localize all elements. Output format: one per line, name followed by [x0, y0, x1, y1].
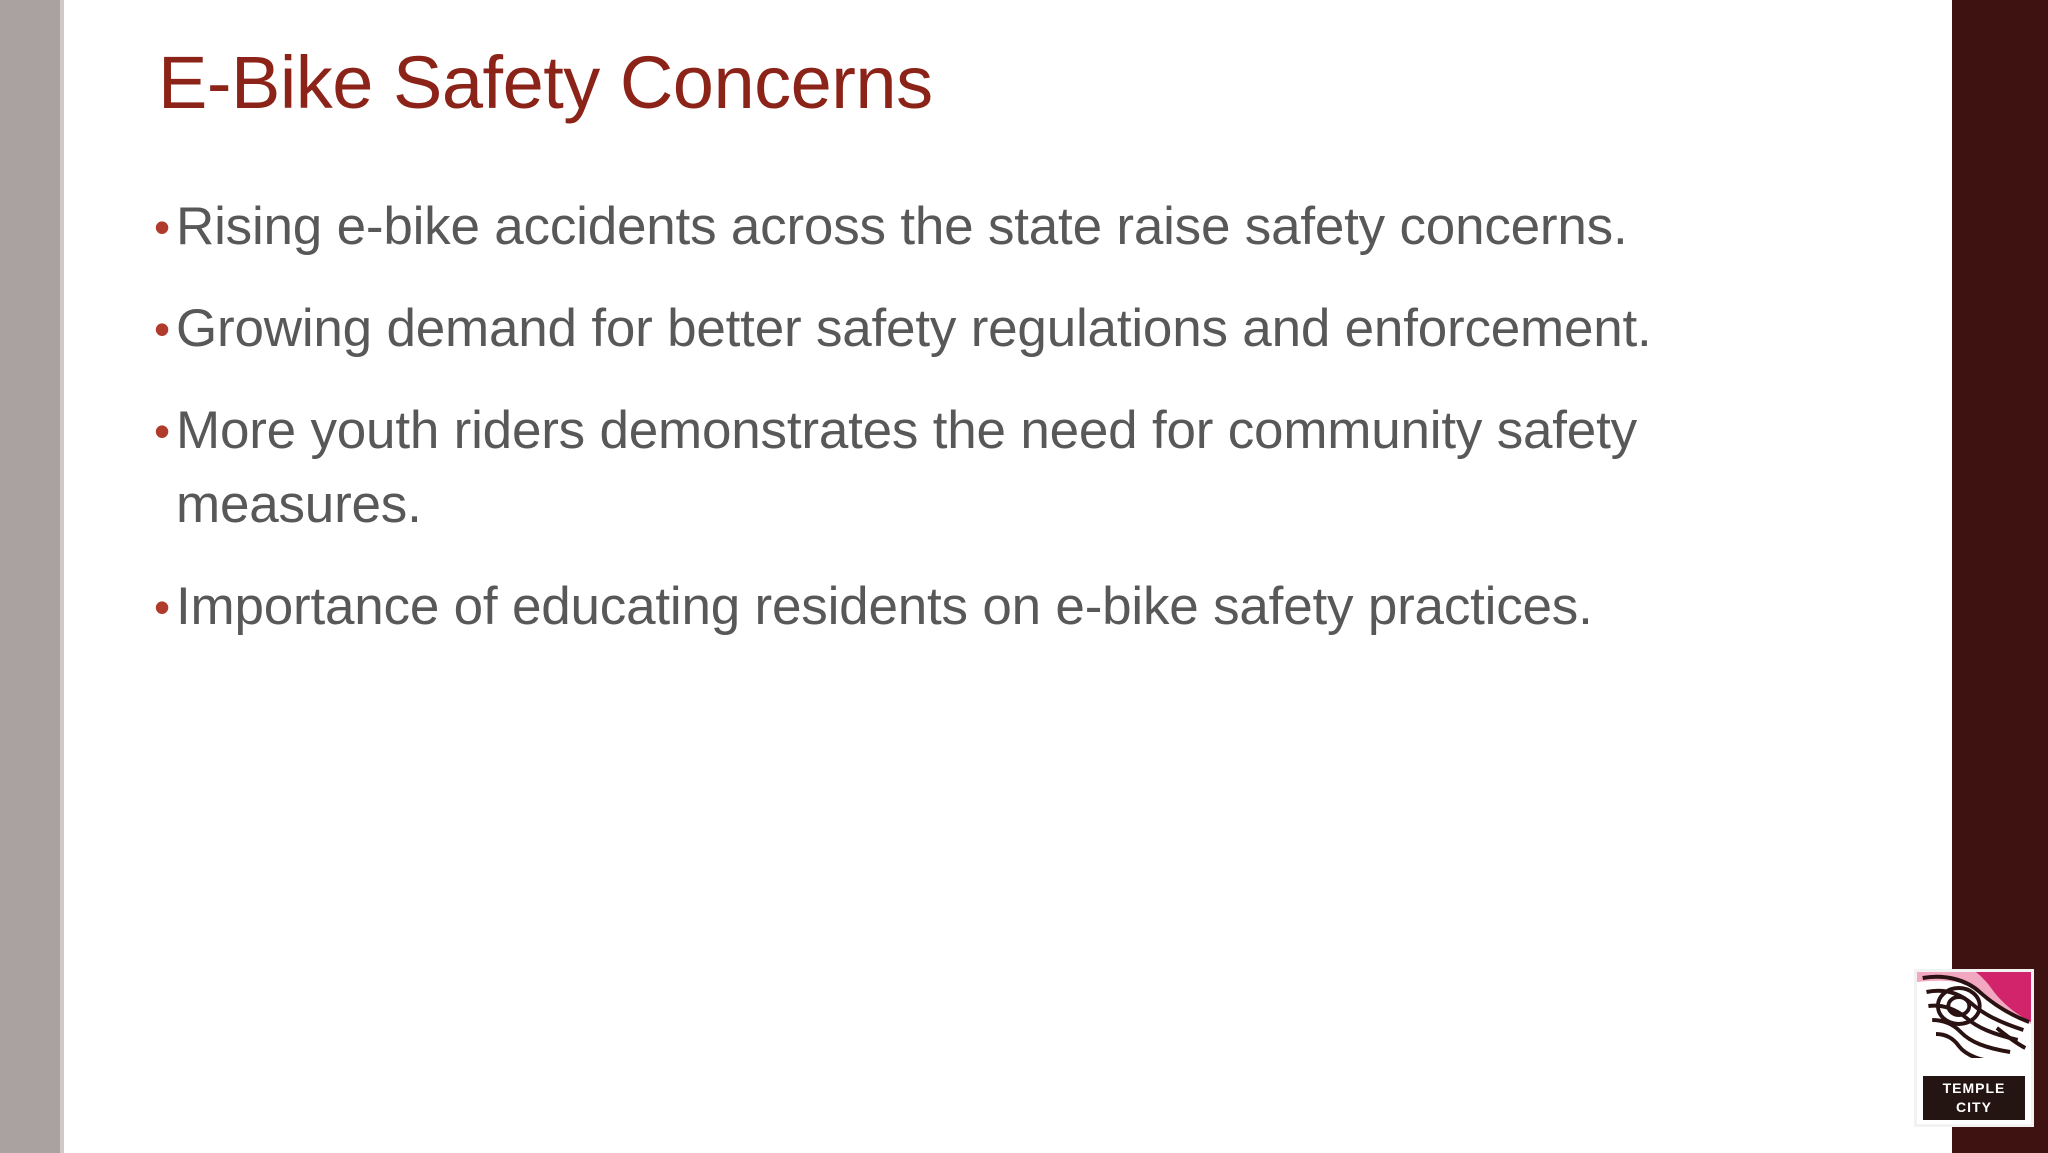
list-item: • More youth riders demonstrates the nee…: [150, 394, 1906, 542]
bullet-dot-icon: •: [150, 394, 176, 468]
list-item: • Growing demand for better safety regul…: [150, 292, 1906, 366]
bullet-dot-icon: •: [150, 190, 176, 264]
bullet-text: Importance of educating residents on e-b…: [176, 570, 1736, 644]
bullet-list: • Rising e-bike accidents across the sta…: [150, 190, 1906, 672]
temple-city-logo: TEMPLE CITY: [1914, 969, 2034, 1127]
bullet-dot-icon: •: [150, 570, 176, 644]
list-item: • Importance of educating residents on e…: [150, 570, 1906, 644]
rose-icon: [1917, 972, 2031, 1076]
slide: E-Bike Safety Concerns • Rising e-bike a…: [0, 0, 2048, 1153]
logo-line-1: TEMPLE: [1923, 1079, 2025, 1098]
list-item: • Rising e-bike accidents across the sta…: [150, 190, 1906, 264]
bullet-text: Growing demand for better safety regulat…: [176, 292, 1736, 366]
right-decorative-band: TEMPLE CITY: [1952, 0, 2048, 1153]
bullet-dot-icon: •: [150, 292, 176, 366]
slide-content-area: E-Bike Safety Concerns • Rising e-bike a…: [64, 0, 1946, 1153]
bullet-text: More youth riders demonstrates the need …: [176, 394, 1736, 542]
bullet-text: Rising e-bike accidents across the state…: [176, 190, 1736, 264]
logo-line-2: CITY: [1923, 1098, 2025, 1117]
logo-caption: TEMPLE CITY: [1923, 1076, 2025, 1120]
left-decorative-band: [0, 0, 60, 1153]
slide-title: E-Bike Safety Concerns: [158, 40, 933, 125]
